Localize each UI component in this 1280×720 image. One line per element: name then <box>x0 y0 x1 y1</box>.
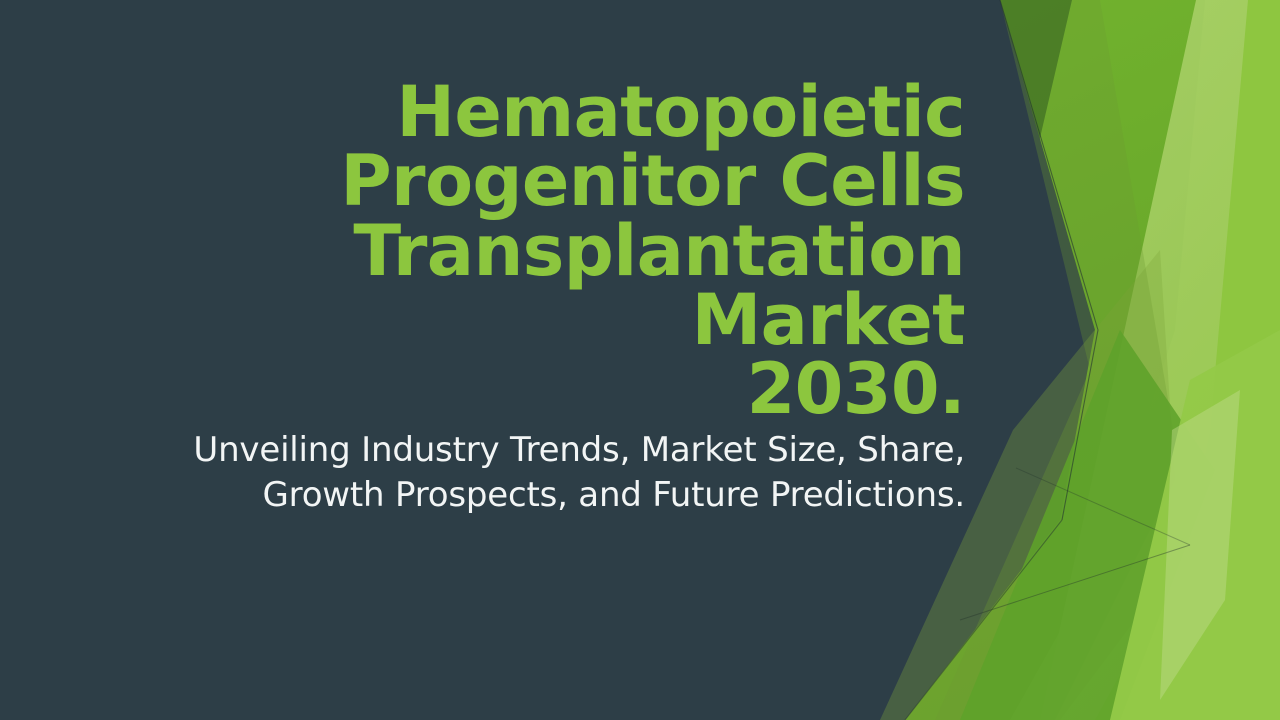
presentation-slide: Hematopoietic Progenitor Cells Transplan… <box>0 0 1280 720</box>
page-title: Hematopoietic Progenitor Cells Transplan… <box>150 78 965 424</box>
subtitle-container: Unveiling Industry Trends, Market Size, … <box>150 428 965 518</box>
title-container: Hematopoietic Progenitor Cells Transplan… <box>150 78 965 424</box>
slide-content: Hematopoietic Progenitor Cells Transplan… <box>0 0 1280 720</box>
slide-subtitle: Unveiling Industry Trends, Market Size, … <box>150 428 965 518</box>
